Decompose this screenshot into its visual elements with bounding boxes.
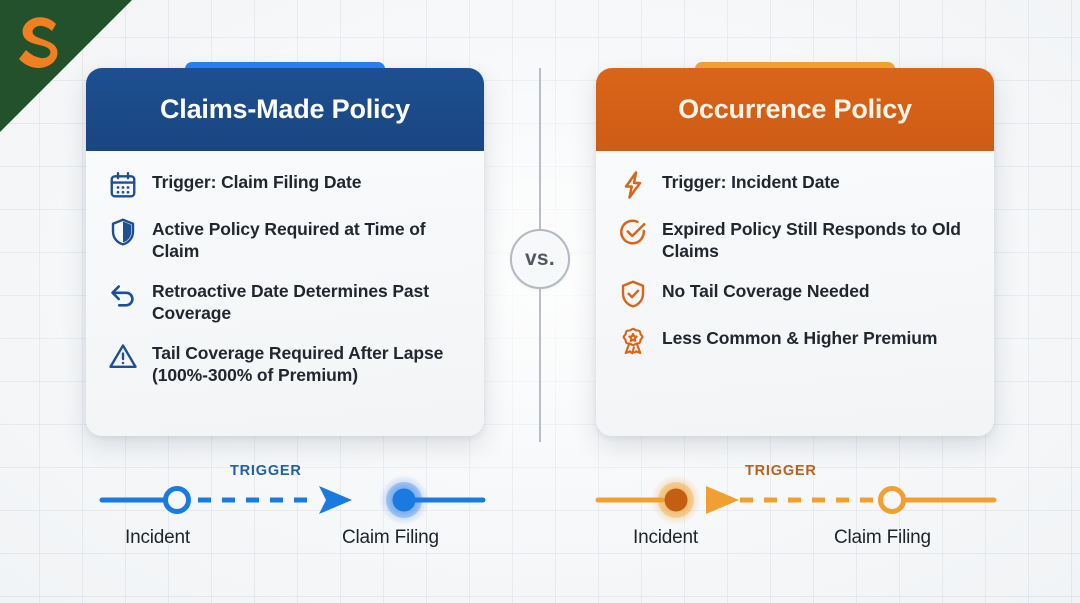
- timeline-left-node-label: Incident: [125, 527, 190, 549]
- undo-arrow-icon: [108, 279, 138, 309]
- feature-list-claims-made: Trigger: Claim Filing Date Active Policy…: [86, 151, 484, 386]
- feature-row: Less Common & Higher Premium: [618, 325, 972, 356]
- timeline-claims-made: TRIGGER Incident Claim Filing: [70, 455, 500, 575]
- feature-row: No Tail Coverage Needed: [618, 278, 972, 309]
- timeline-right-node-label: Claim Filing: [342, 527, 439, 549]
- feature-label: Active Policy Required at Time of Claim: [152, 216, 462, 262]
- lightning-bolt-icon: [618, 170, 648, 200]
- feature-row: Active Policy Required at Time of Claim: [108, 216, 462, 262]
- timeline-occurrence: TRIGGER Incident Claim Filing: [580, 455, 1010, 575]
- timeline-arrow-right-icon: [319, 486, 352, 514]
- timeline-trigger-label: TRIGGER: [745, 463, 817, 479]
- timeline-node-hollow: [166, 489, 189, 512]
- award-ribbon-icon: [618, 326, 648, 356]
- feature-row: Expired Policy Still Responds to Old Cla…: [618, 216, 972, 262]
- feature-row: Retroactive Date Determines Past Coverag…: [108, 278, 462, 324]
- timeline-node-hollow: [881, 489, 904, 512]
- shield-check-icon: [618, 279, 648, 309]
- card-header-occurrence: Occurrence Policy: [596, 68, 994, 151]
- shield-icon: [108, 217, 138, 247]
- vs-badge-label: vs.: [525, 247, 555, 271]
- feature-label: Retroactive Date Determines Past Coverag…: [152, 278, 462, 324]
- timeline-left-node-label: Incident: [633, 527, 698, 549]
- card-title-occurrence: Occurrence Policy: [678, 94, 912, 125]
- feature-label: Expired Policy Still Responds to Old Cla…: [662, 216, 972, 262]
- timeline-arrow-left-icon: [706, 486, 739, 514]
- feature-label: Trigger: Claim Filing Date: [152, 169, 361, 193]
- feature-label: No Tail Coverage Needed: [662, 278, 869, 302]
- card-occurrence-policy: Occurrence Policy Trigger: Incident Date…: [596, 68, 994, 436]
- calendar-icon: [108, 170, 138, 200]
- timeline-node-filled: [665, 489, 688, 512]
- card-header-claims-made: Claims-Made Policy: [86, 68, 484, 151]
- timeline-trigger-label: TRIGGER: [230, 463, 302, 479]
- feature-list-occurrence: Trigger: Incident Date Expired Policy St…: [596, 151, 994, 356]
- timeline-right-node-label: Claim Filing: [834, 527, 931, 549]
- feature-row: Tail Coverage Required After Lapse (100%…: [108, 340, 462, 386]
- check-circle-icon: [618, 217, 648, 247]
- brand-logo-s-icon: [14, 14, 68, 72]
- feature-label: Less Common & Higher Premium: [662, 325, 937, 349]
- warning-triangle-icon: [108, 341, 138, 371]
- feature-label: Tail Coverage Required After Lapse (100%…: [152, 340, 462, 386]
- feature-row: Trigger: Incident Date: [618, 169, 972, 200]
- card-title-claims-made: Claims-Made Policy: [160, 94, 410, 125]
- vs-badge: vs.: [510, 229, 570, 289]
- feature-row: Trigger: Claim Filing Date: [108, 169, 462, 200]
- card-claims-made-policy: Claims-Made Policy Trigger: Claim Filing…: [86, 68, 484, 436]
- feature-label: Trigger: Incident Date: [662, 169, 840, 193]
